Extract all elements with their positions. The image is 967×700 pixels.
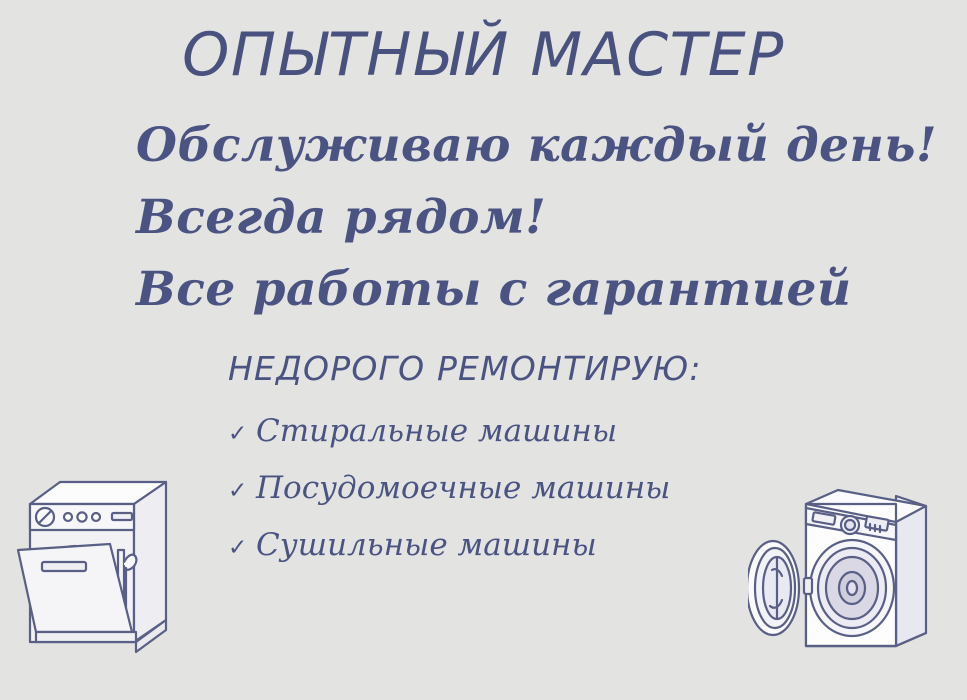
dishwasher-illustration xyxy=(14,472,204,657)
page-title: ОПЫТНЫЙ МАСТЕР xyxy=(0,22,967,88)
check-icon: ✓ xyxy=(228,407,254,461)
list-item-label: Стиральные машины xyxy=(256,404,617,458)
tagline-block: Обслуживаю каждый день! Всегда рядом! Вс… xyxy=(136,110,896,326)
tagline-1: Обслуживаю каждый день! xyxy=(136,110,896,182)
washing-machine-illustration xyxy=(748,478,953,658)
list-item-label: Посудомоечные машины xyxy=(256,461,670,515)
check-icon: ✓ xyxy=(228,521,254,575)
check-icon: ✓ xyxy=(228,464,254,518)
services-heading: НЕДОРОГО РЕМОНТИРУЮ: xyxy=(228,348,848,390)
tagline-3: Все работы с гарантией xyxy=(136,254,896,326)
list-item: ✓ Стиральные машины xyxy=(228,404,848,461)
advertisement-poster: ОПЫТНЫЙ МАСТЕР Обслуживаю каждый день! В… xyxy=(0,0,967,700)
list-item-label: Сушильные машины xyxy=(256,518,597,572)
tagline-2: Всегда рядом! xyxy=(136,182,896,254)
